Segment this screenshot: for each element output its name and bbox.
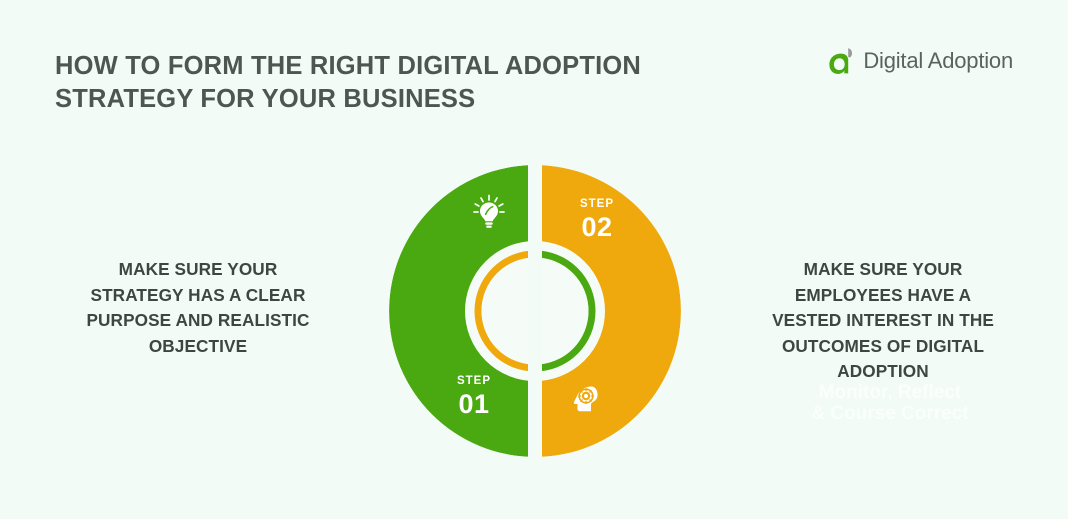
step-02-number: 02 [568, 214, 626, 241]
logo-a-mark-icon [828, 46, 858, 76]
right-description-text: MAKE SURE YOUR EMPLOYEES HAVE A VESTED I… [738, 257, 1028, 385]
step-01-caption: STEP 01 [445, 376, 503, 418]
logo-text: Digital Adoption [863, 48, 1013, 74]
ghost-overlay-text: Monitor, Reflect & Course Correct [760, 382, 1020, 424]
head-gear-icon [565, 378, 605, 418]
inner-hole-fill [482, 258, 589, 365]
step-01-number: 01 [445, 391, 503, 418]
lightbulb-icon [469, 193, 509, 233]
page-title: HOW TO FORM THE RIGHT DIGITAL ADOPTION S… [55, 50, 675, 116]
brand-logo: Digital Adoption [828, 44, 1013, 78]
step-01-label: STEP [445, 376, 503, 388]
infographic-canvas: HOW TO FORM THE RIGHT DIGITAL ADOPTION S… [0, 0, 1068, 519]
left-description-text: MAKE SURE YOUR STRATEGY HAS A CLEAR PURP… [48, 257, 348, 359]
step-02-label: STEP [568, 199, 626, 211]
two-step-circle-diagram: STEP 01 STEP 02 [385, 161, 685, 461]
step-02-caption: STEP 02 [568, 199, 626, 241]
